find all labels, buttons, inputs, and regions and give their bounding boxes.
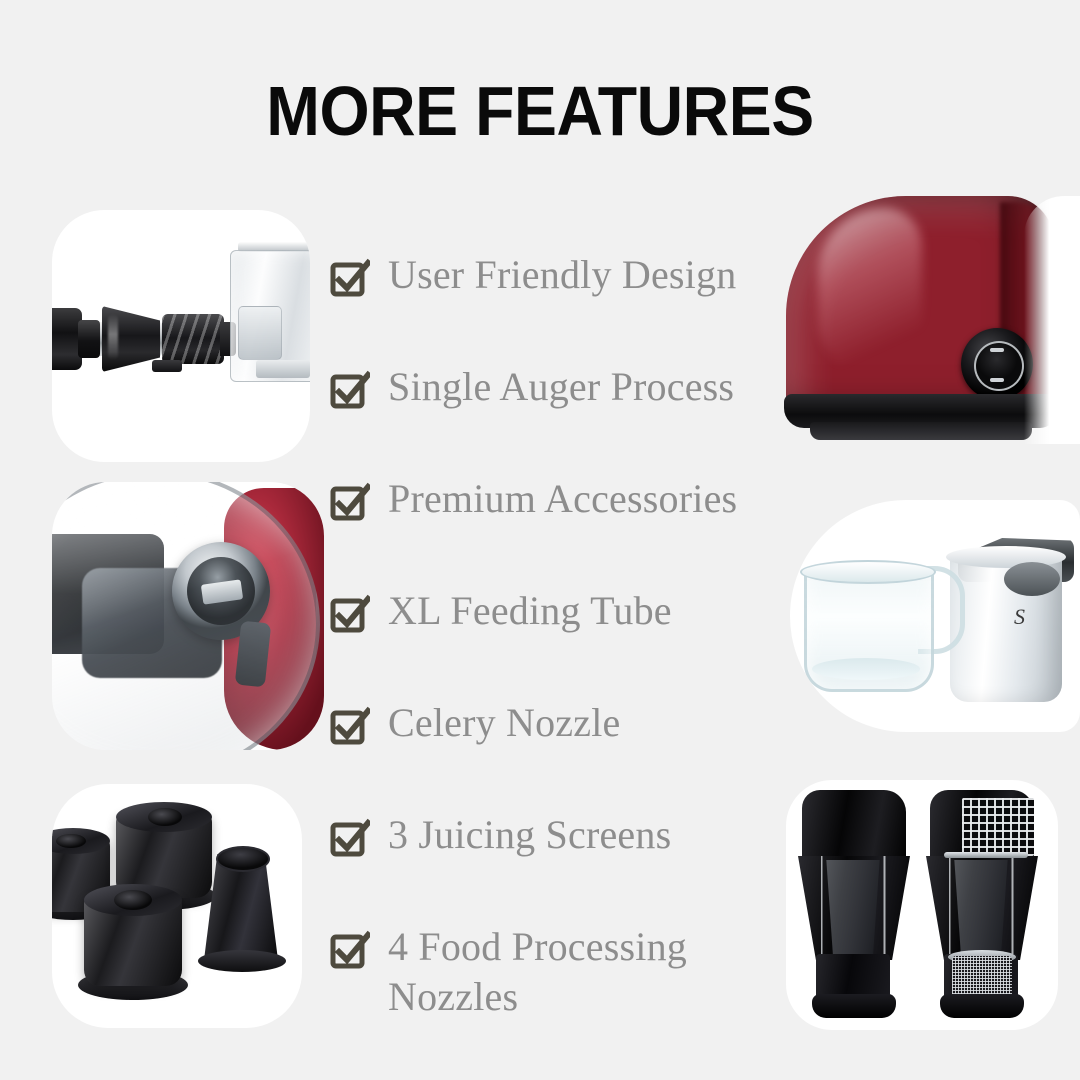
checkbox-checked-icon [330,930,370,970]
feature-item-label: 3 Juicing Screens [388,808,760,860]
juicing-screen-blank [798,790,910,1020]
auger-collar-part [78,320,100,358]
feature-item-user-friendly-design: User Friendly Design [330,248,760,360]
feature-item-food-processing-nozzles: 4 Food Processing Nozzles [330,920,760,1032]
screen-side-ribs [808,856,900,962]
glass-cup-bottom [812,658,920,680]
auger-cone-highlight [108,314,118,360]
pitchers-illustration: S [790,500,1080,732]
juicing-screens-photo [786,780,1058,1030]
feeding-tube-illustration [52,482,324,750]
juicer-body-photo [778,196,1080,450]
nozzle-2-hole [148,808,182,826]
feature-item-label: 4 Food Processing Nozzles [388,920,760,1022]
housing-inner-part [238,306,282,360]
feature-list: User Friendly Design Single Auger Proces… [330,248,760,1032]
nozzle-3-hole [114,890,152,910]
auger-parts-photo [52,210,310,462]
feature-item-celery-nozzle: Celery Nozzle [330,696,760,808]
feature-item-label: Single Auger Process [388,360,760,412]
steel-pitcher-opening [1004,562,1060,596]
feature-item-label: XL Feeding Tube [388,584,760,636]
feature-item-label: Celery Nozzle [388,696,760,748]
food-processing-nozzles-photo [52,784,302,1028]
auger-screw-part [162,314,224,364]
chrome-arc-reflection [52,482,320,750]
checkbox-checked-icon [330,370,370,410]
celery-nozzle-mouth [216,846,270,872]
screen-coarse-grid [962,798,1034,856]
pitchers-photo: S [790,500,1080,732]
feature-infographic: MORE FEATURES [0,0,1080,1080]
screen-foot [812,994,896,1018]
auger-foot-part [152,360,182,372]
pitcher-brand-script: S [1014,604,1026,630]
control-knob-tick-bottom [990,378,1004,382]
feature-item-label: Premium Accessories [388,472,760,524]
control-knob-tick-top [990,348,1004,352]
feeding-tube-photo [52,482,324,750]
screen-cross-bar [944,852,1028,858]
checkbox-checked-icon [330,258,370,298]
feature-item-label: User Friendly Design [388,248,760,300]
juicer-shell-highlight [818,208,922,378]
auger-parts-illustration [52,210,310,462]
checkbox-checked-icon [330,594,370,634]
housing-base-part [256,360,310,378]
nozzle-1-hole [56,834,86,848]
feature-item-single-auger-process: Single Auger Process [330,360,760,472]
celery-nozzle-base [198,950,286,972]
glass-cup-rim [800,560,936,584]
feature-item-premium-accessories: Premium Accessories [330,472,760,584]
checkbox-checked-icon [330,482,370,522]
feature-item-xl-feeding-tube: XL Feeding Tube [330,584,760,696]
juicing-screens-illustration [786,780,1058,1030]
juicer-photo-backdrop [1024,196,1080,444]
juicer-foot [810,422,1032,440]
juicing-screen-mesh [926,790,1038,1020]
page-title: MORE FEATURES [43,72,1037,150]
checkbox-checked-icon [330,818,370,858]
feature-item-juicing-screens: 3 Juicing Screens [330,808,760,920]
nozzles-illustration [52,784,302,1028]
screen-foot [940,994,1024,1018]
screen-side-ribs [936,856,1028,962]
checkbox-checked-icon [330,706,370,746]
